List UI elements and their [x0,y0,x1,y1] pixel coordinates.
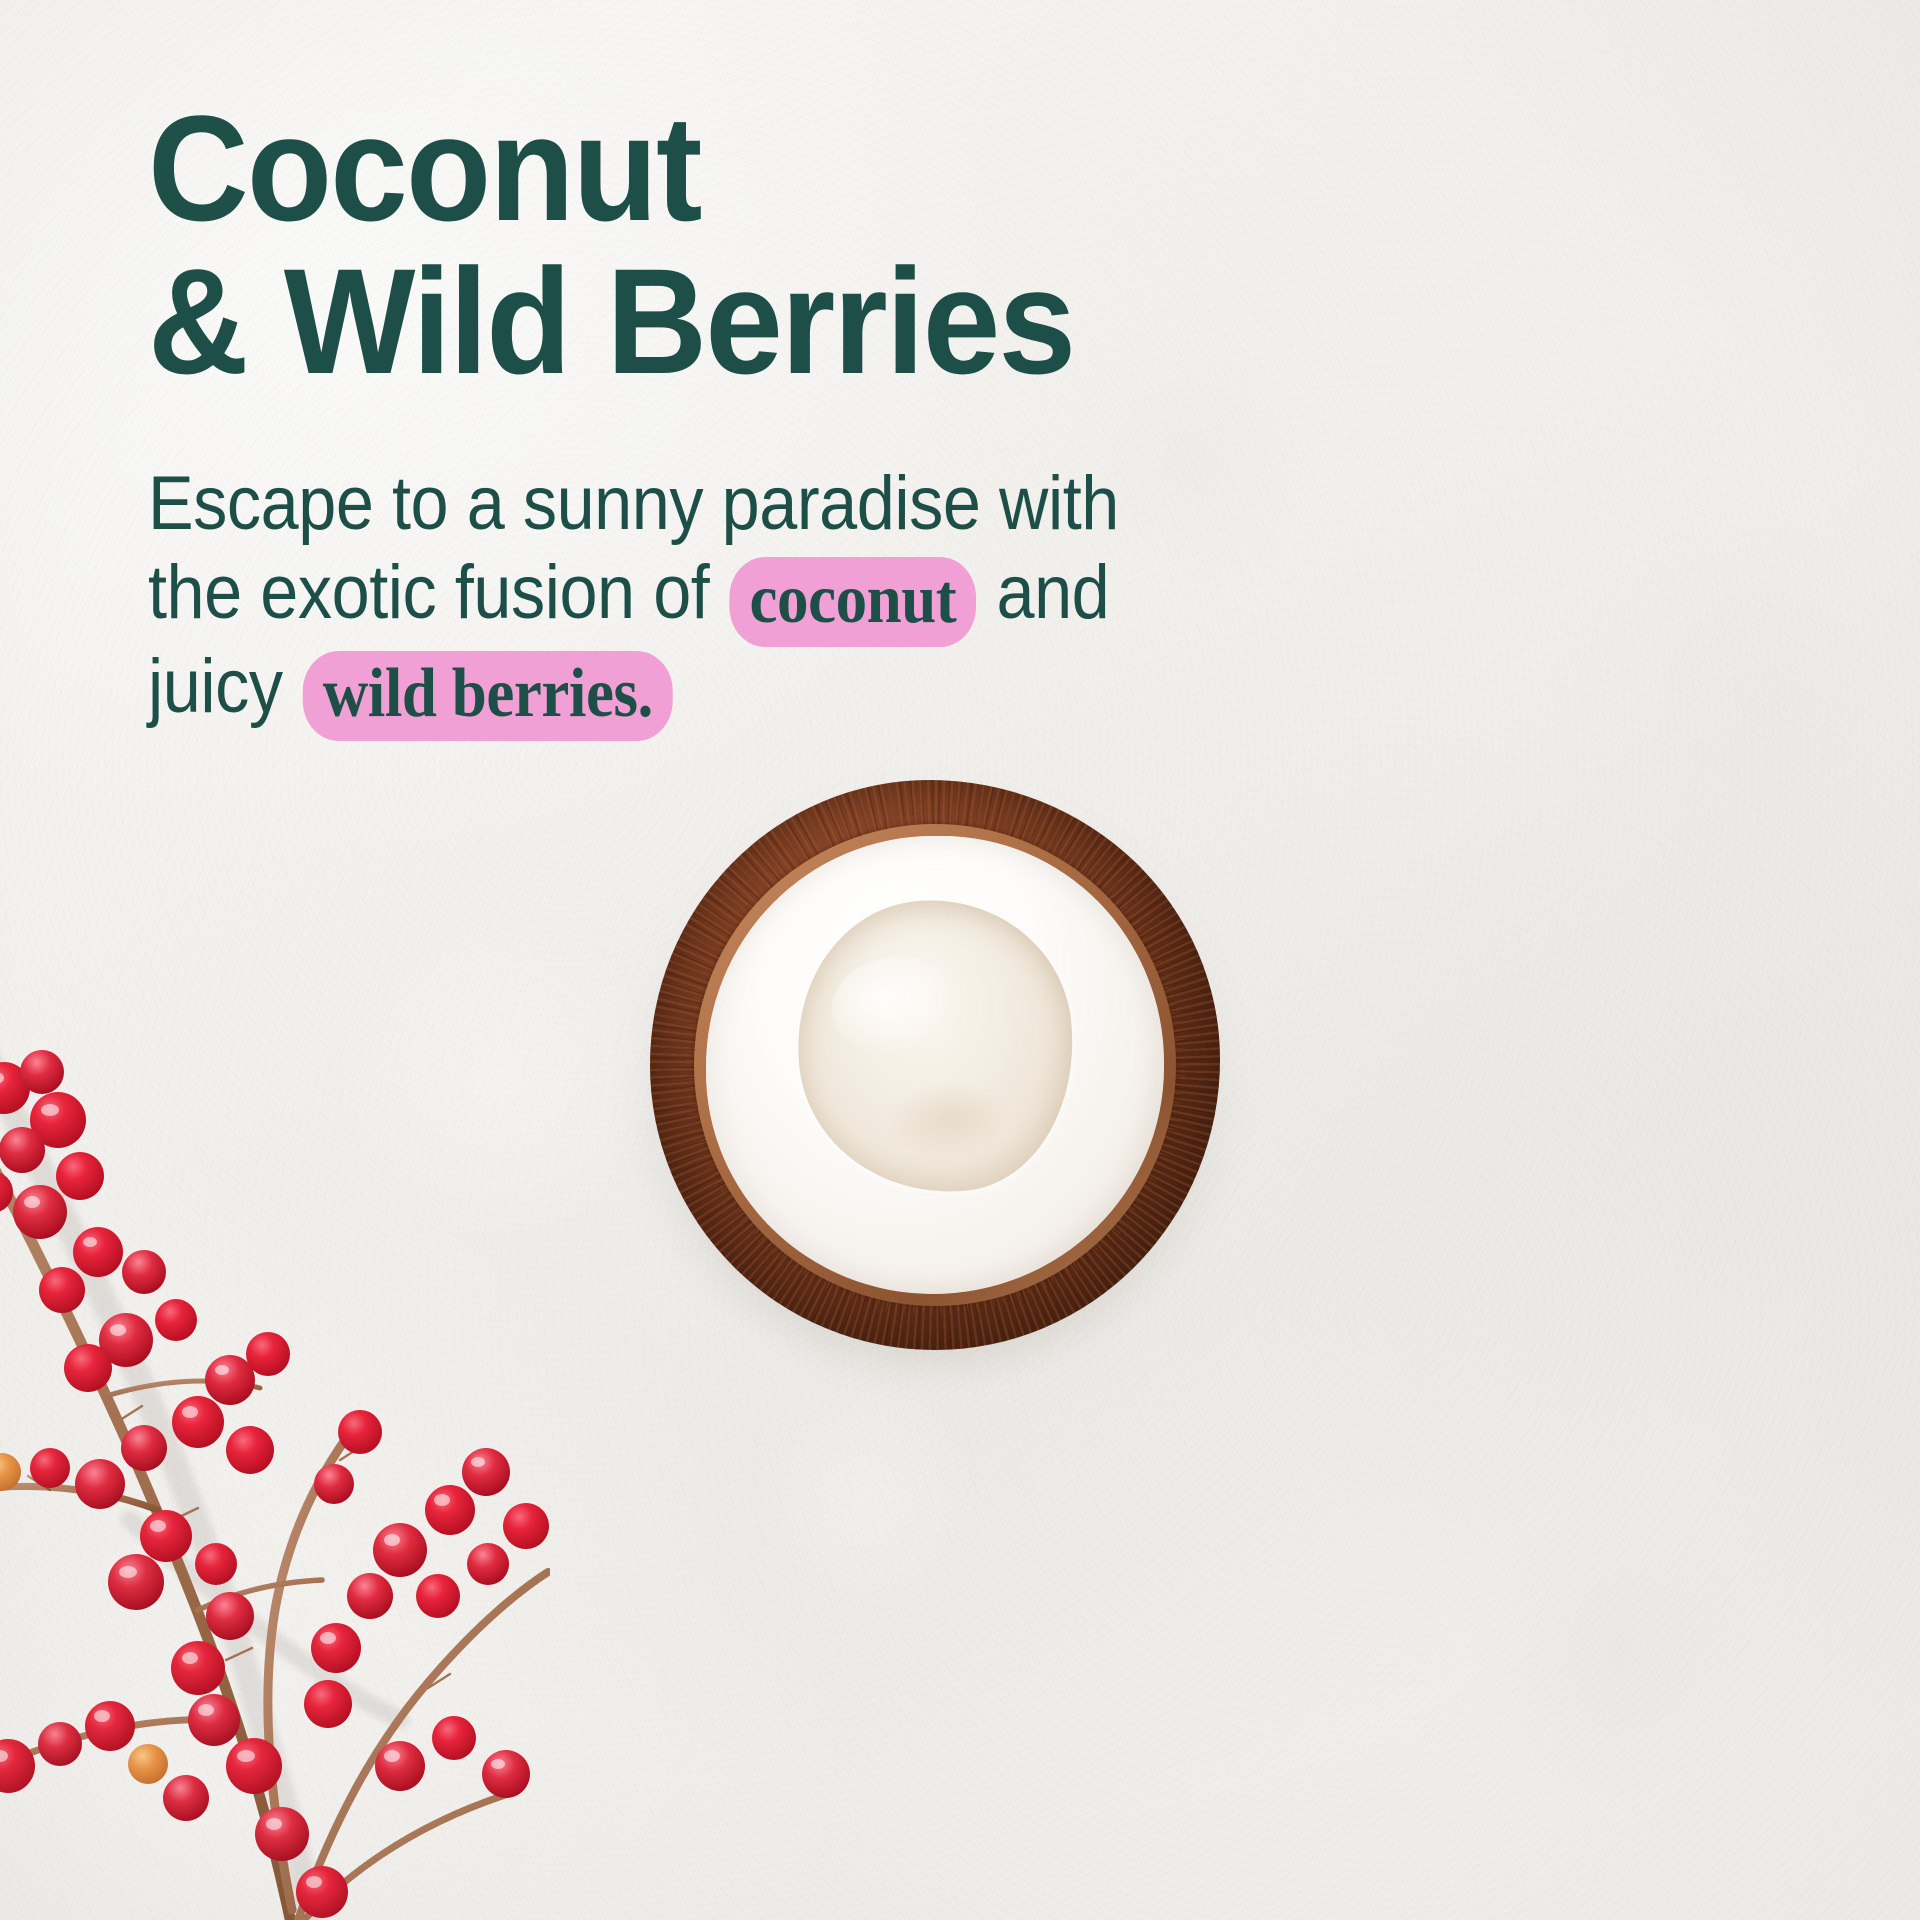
berry-sprig-svg [0,820,550,1920]
highlight-coconut: coconut [730,557,976,647]
coconut-half-image [650,780,1220,1350]
subhead-segment-4: juicy [148,644,283,729]
berry-cluster [0,915,549,1918]
subhead-paragraph: Escape to a sunny paradise with the exot… [148,460,1210,737]
subhead-segment-2: the exotic fusion of [148,550,709,635]
page-title: Coconut & Wild Berries [148,92,1245,398]
highlight-wild-berries: wild berries. [303,651,673,741]
berry-sprig-image [0,820,550,1920]
coconut-cavity [783,887,1087,1207]
subhead-segment-1: Escape to a sunny paradise with [148,461,1119,546]
subhead-segment-3: and [997,550,1110,635]
coconut-white-flesh [706,836,1164,1294]
poster-canvas: Coconut & Wild Berries Escape to a sunny… [0,0,1920,1920]
text-block: Coconut & Wild Berries Escape to a sunny… [148,92,1328,737]
